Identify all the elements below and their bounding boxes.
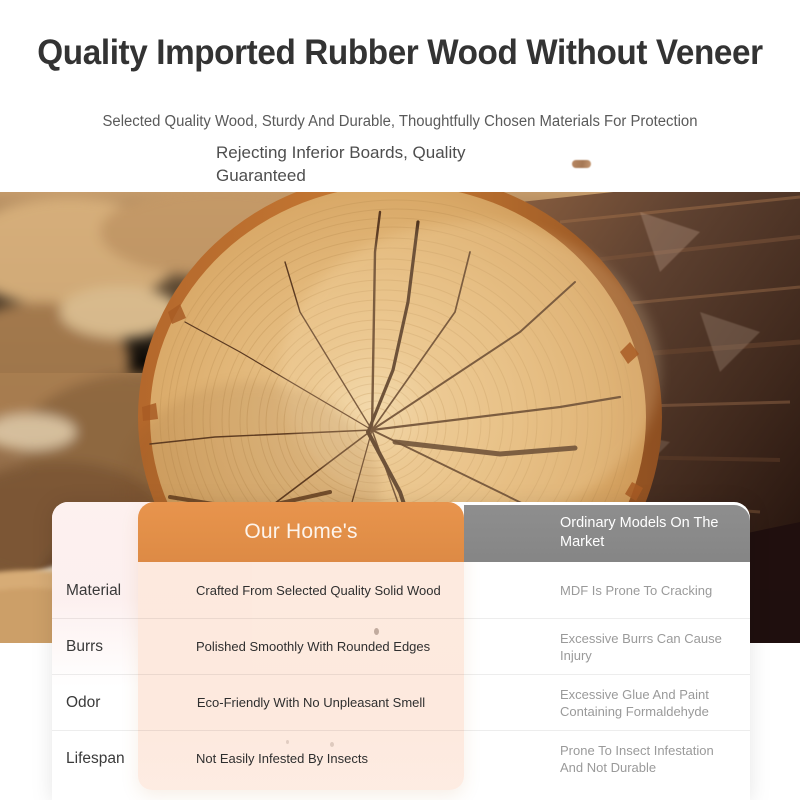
table-cell-market: Prone To Insect Infestation And Not Dura… [464,742,750,776]
table-row-label: Lifespan [52,750,138,768]
table-header-ours: Our Home's [138,502,464,562]
table-row: LifespanNot Easily Infested By InsectsPr… [52,730,750,786]
comparison-table: Our Home's Ordinary Models On The Market… [52,502,750,800]
table-cell-ours: Polished Smoothly With Rounded Edges [138,638,464,655]
table-header-market: Ordinary Models On The Market [464,505,750,562]
table-row-label: Burrs [52,638,138,656]
table-header-ours-label: Our Home's [244,520,357,544]
table-cell-ours: Eco-Friendly With No Unpleasant Smell [138,694,464,711]
table-row-label: Material [52,582,138,600]
table-cell-ours: Not Easily Infested By Insects [138,750,464,767]
table-body: MaterialCrafted From Selected Quality So… [52,562,750,786]
page-header: Quality Imported Rubber Wood Without Ven… [0,0,800,192]
page-subtitle-primary: Selected Quality Wood, Sturdy And Durabl… [16,113,784,131]
table-cell-market: Excessive Glue And Paint Containing Form… [464,686,750,720]
table-header-market-label: Ordinary Models On The Market [464,514,750,552]
table-row: BurrsPolished Smoothly With Rounded Edge… [52,618,750,674]
decorative-smudge-icon [572,160,591,168]
page-subtitle-secondary: Rejecting Inferior Boards, Quality Guara… [216,141,546,187]
page-title: Quality Imported Rubber Wood Without Ven… [20,33,780,73]
table-row: OdorEco-Friendly With No Unpleasant Smel… [52,674,750,730]
product-detail-page: Quality Imported Rubber Wood Without Ven… [0,0,800,800]
table-cell-market: Excessive Burrs Can Cause Injury [464,630,750,664]
table-row: MaterialCrafted From Selected Quality So… [52,562,750,618]
table-cell-ours: Crafted From Selected Quality Solid Wood [138,582,464,599]
table-cell-market: MDF Is Prone To Cracking [464,582,750,599]
table-row-label: Odor [52,694,138,712]
